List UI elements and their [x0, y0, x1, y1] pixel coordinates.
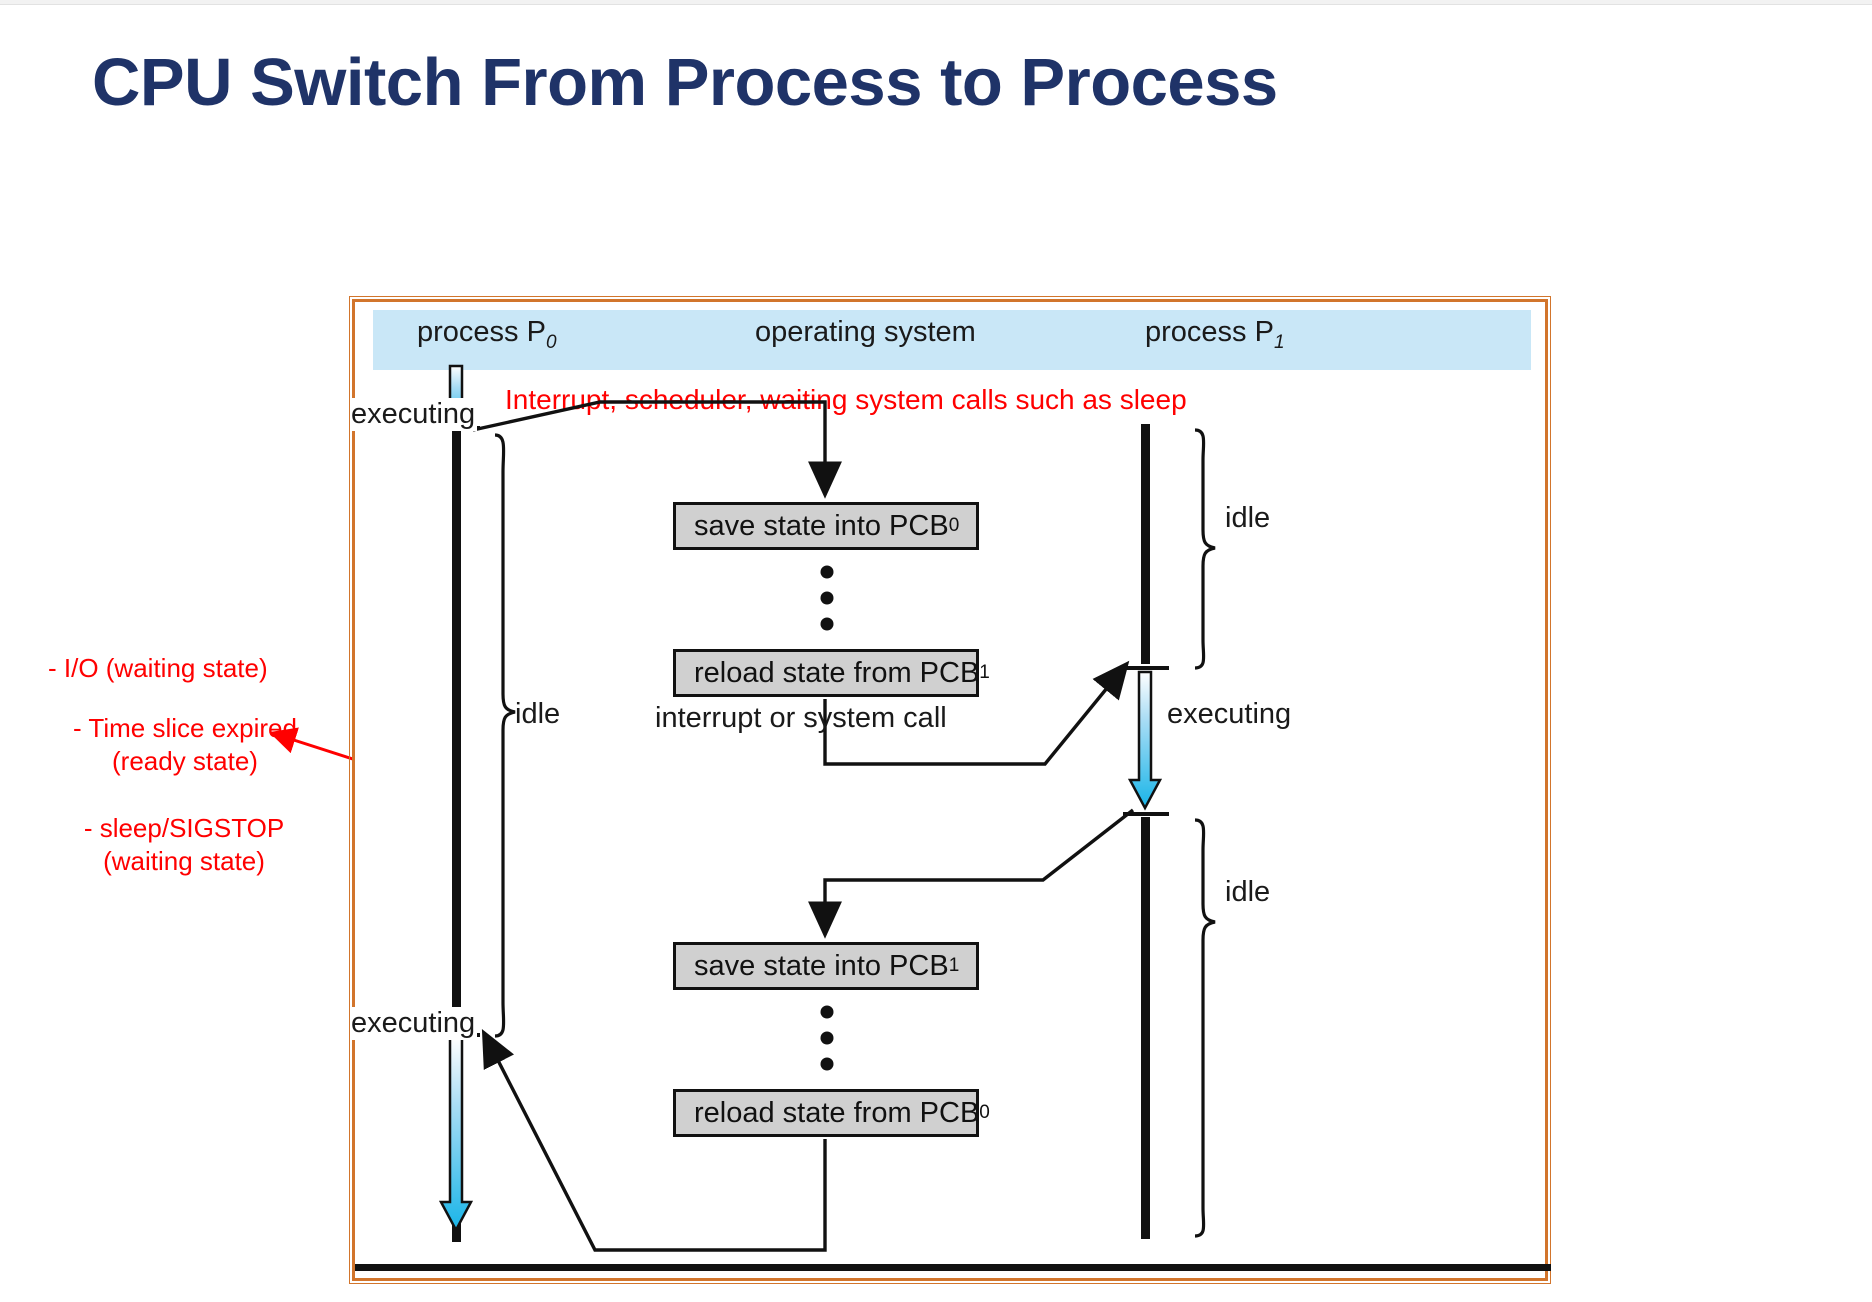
box-save-state-pcb0-sub: 0	[949, 515, 960, 537]
label-left-executing-top: executing	[351, 398, 477, 431]
box-reload-state-pcb0: reload state from PCB0	[673, 1089, 979, 1137]
annotation-time-slice-line1: - Time slice expired	[73, 713, 297, 743]
annotation-sleep-sigstop-line1: - sleep/SIGSTOP	[84, 813, 284, 843]
diagram-frame: process P0 operating system process P1 I…	[352, 299, 1548, 1281]
slide-canvas: CPU Switch From Process to Process - I/O…	[0, 0, 1872, 1302]
box-reload-state-pcb1-label: reload state from PCB	[694, 657, 979, 690]
label-right-idle-bottom: idle	[1225, 876, 1270, 909]
annotation-time-slice-line2: (ready state)	[40, 745, 330, 778]
annotation-sleep-sigstop-line2: (waiting state)	[48, 845, 320, 878]
blue-arrow-left-bottom	[441, 1038, 471, 1230]
box-reload-state-pcb1: reload state from PCB1	[673, 649, 979, 697]
label-left-idle: idle	[515, 698, 560, 731]
box-reload-state-pcb1-sub: 1	[979, 662, 990, 684]
label-right-idle-top: idle	[1225, 502, 1270, 535]
annotation-time-slice: - Time slice expired (ready state)	[40, 712, 330, 777]
box-save-state-pcb1-sub: 1	[949, 955, 960, 977]
top-divider	[0, 0, 1872, 5]
annotation-sleep-sigstop: - sleep/SIGSTOP (waiting state)	[48, 812, 320, 877]
box-reload-state-pcb0-label: reload state from PCB	[694, 1097, 979, 1130]
box-reload-state-pcb0-sub: 0	[979, 1102, 990, 1124]
page-title: CPU Switch From Process to Process	[92, 48, 1792, 118]
label-left-executing-bottom: executing	[351, 1007, 477, 1040]
blue-arrow-right	[1130, 672, 1160, 808]
box-save-state-pcb1: save state into PCB1	[673, 942, 979, 990]
label-right-executing: executing	[1167, 698, 1291, 731]
box-save-state-pcb1-label: save state into PCB	[694, 950, 949, 983]
annotation-io: - I/O (waiting state)	[48, 652, 268, 685]
box-save-state-pcb0-label: save state into PCB	[694, 510, 949, 543]
annotation-io-line1: - I/O (waiting state)	[48, 653, 268, 683]
label-interrupt-or-system-call: interrupt or system call	[655, 702, 947, 735]
box-save-state-pcb0: save state into PCB0	[673, 502, 979, 550]
